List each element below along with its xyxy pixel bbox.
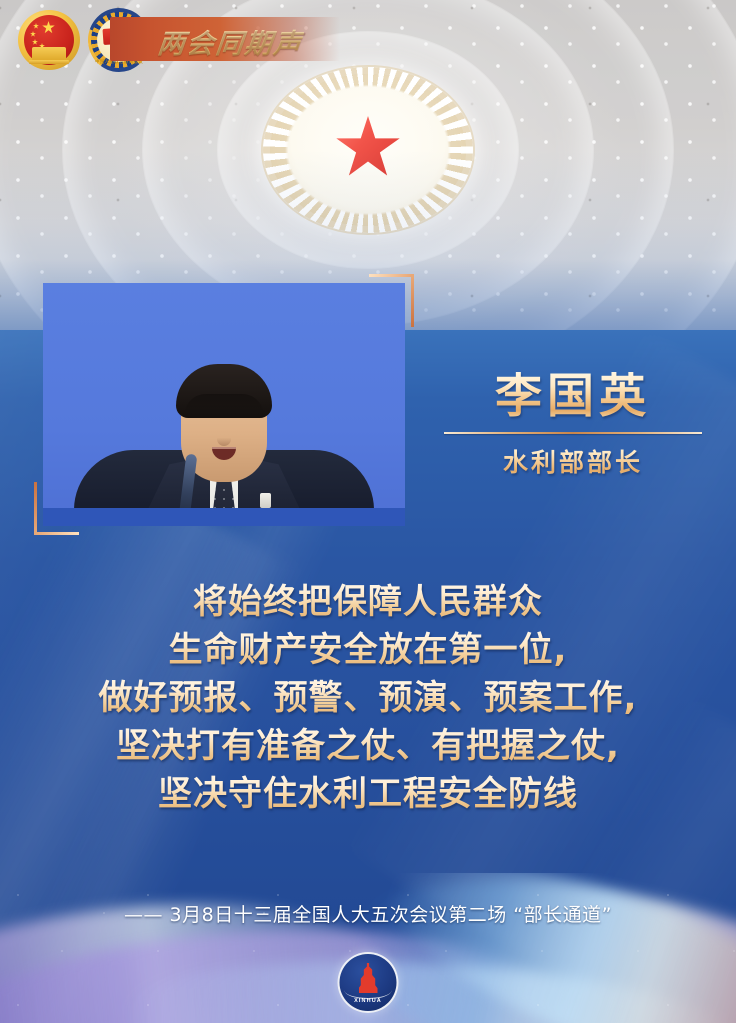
photo-corner-top-right <box>369 274 414 327</box>
xinhua-logo-icon: XINHUA <box>338 952 399 1013</box>
nose-shape <box>217 432 231 446</box>
person-title: 水利部部长 <box>430 443 716 479</box>
quote-line: 将始终把保障人民群众 <box>0 578 736 626</box>
quote-line: 坚决守住水利工程安全防线 <box>0 770 736 818</box>
quote-block: 将始终把保障人民群众 生命财产安全放在第一位, 做好预报、预警、预演、预案工作,… <box>0 578 736 818</box>
page-title: 李国英 <box>430 372 716 421</box>
speaker-photo <box>43 283 405 526</box>
quote-line: 坚决打有准备之仗、有把握之仗, <box>0 722 736 770</box>
podium-shape <box>43 508 405 526</box>
photo-corner-bottom-left <box>34 482 79 535</box>
xinhua-arc <box>345 982 392 999</box>
lapel-badge-icon <box>260 493 271 508</box>
speaker-portrait-image <box>43 283 405 526</box>
hair-shape <box>176 364 272 418</box>
person-name-block: 李国英 水利部部长 <box>430 372 716 479</box>
xinhua-logo-text: XINHUA <box>340 998 397 1004</box>
national-emblem-icon <box>18 10 80 70</box>
event-caption: —— 3月8日十三届全国人大五次会议第二场 “部长通道” <box>0 900 736 927</box>
quote-line: 生命财产安全放在第一位, <box>0 626 736 674</box>
header: 1949 中国人民政治协商会议 两会同期声 <box>0 0 736 80</box>
quote-line: 做好预报、预警、预演、预案工作, <box>0 674 736 722</box>
name-divider <box>444 432 702 434</box>
header-banner-title: 两会同期声 <box>156 22 305 61</box>
poster-root: 1949 中国人民政治协商会议 两会同期声 <box>0 0 736 1023</box>
